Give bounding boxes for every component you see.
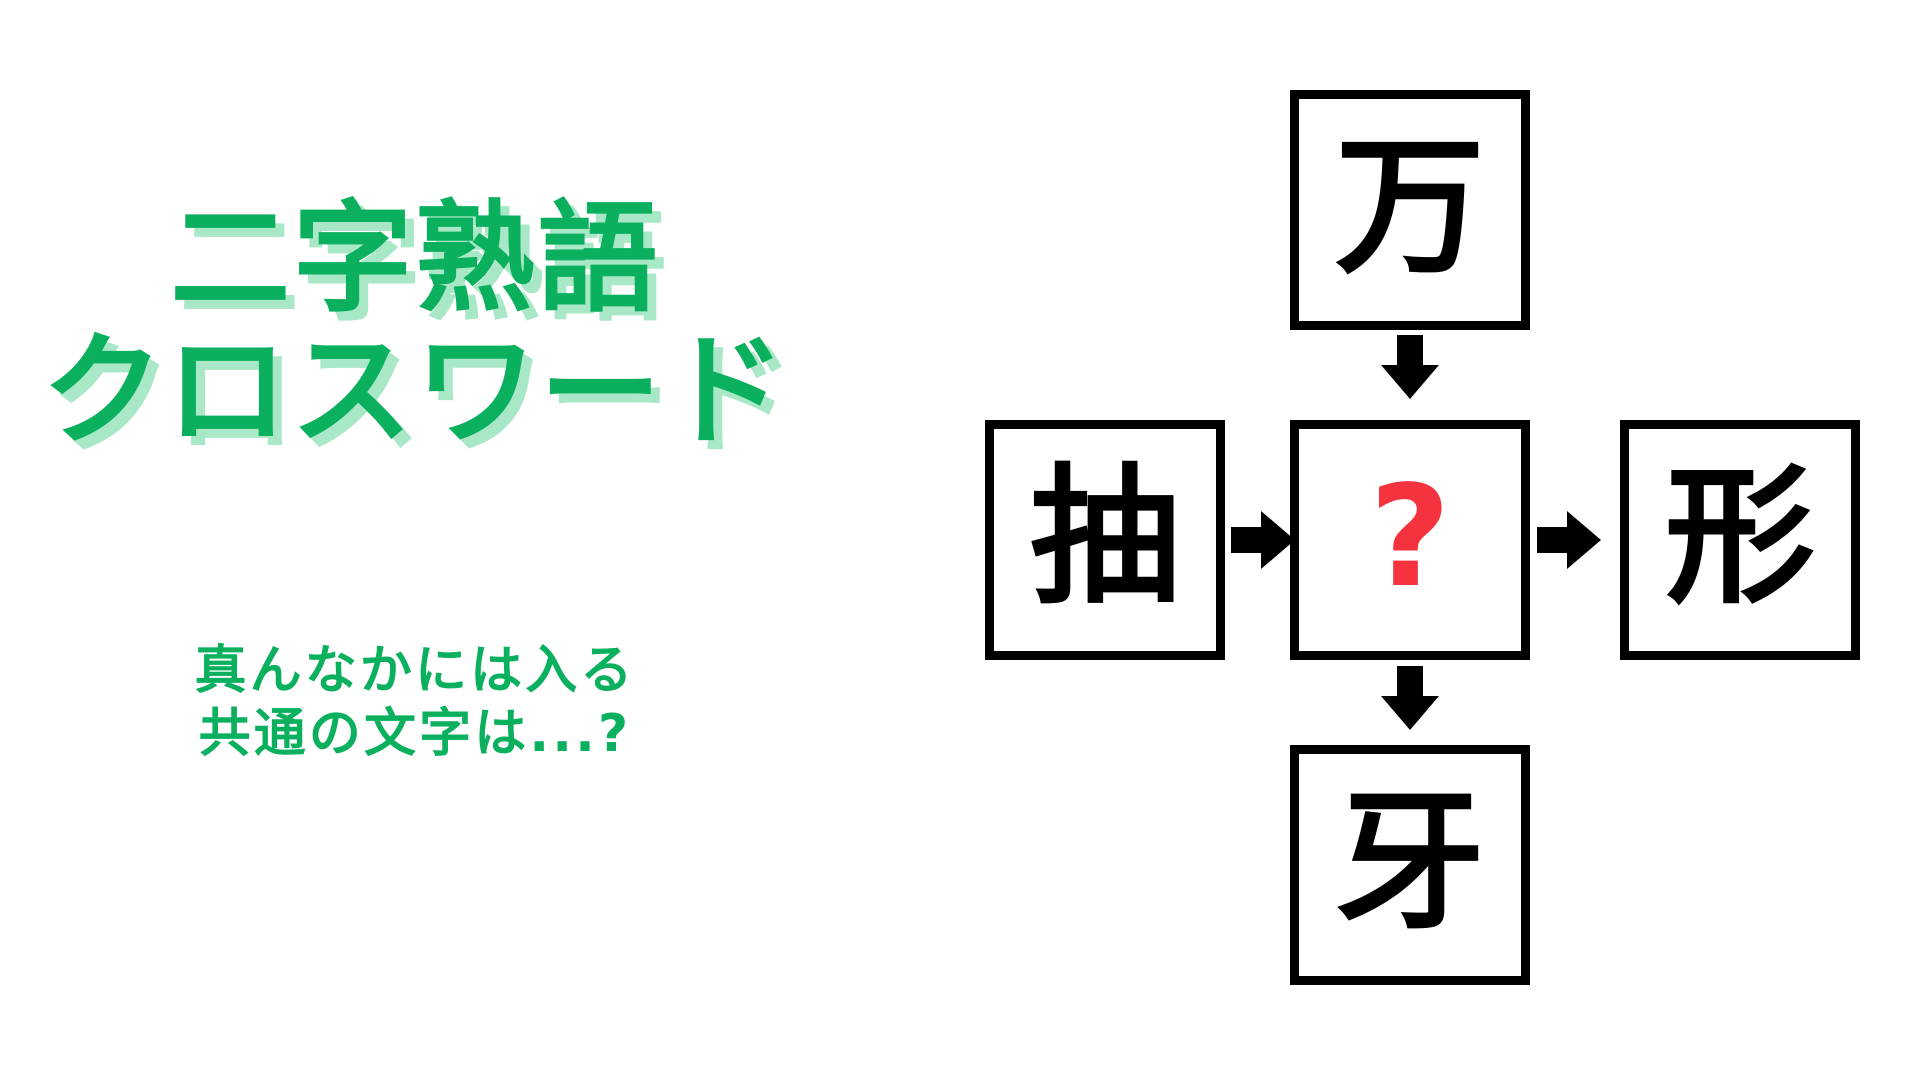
arrow-head [1381,696,1439,730]
title-line-2: クロスワード [0,327,830,456]
puzzle-cell-right-glyph: 形 [1665,463,1815,613]
arrow-down-icon-top-to-center [1381,335,1439,399]
arrow-right-icon-center-to-right [1537,511,1601,569]
arrow-shaft [1231,527,1263,553]
subtitle-line-1: 真んなかには入る [0,640,830,703]
arrow-head [1567,511,1601,569]
puzzle-cell-right: 形 [1620,420,1860,660]
arrow-head [1381,365,1439,399]
puzzle-cell-bottom: 牙 [1290,745,1530,985]
arrow-shaft [1397,666,1423,698]
puzzle-cell-bottom-glyph: 牙 [1335,788,1485,938]
title-block: 二字熟語 クロスワード [0,196,830,457]
puzzle-cell-left-glyph: 抽 [1030,463,1180,613]
puzzle-cell-left: 抽 [985,420,1225,660]
puzzle-cell-center[interactable]: ? [1290,420,1530,660]
arrow-down-icon-center-to-bottom [1381,666,1439,730]
arrow-head [1261,511,1295,569]
puzzle-cell-top-glyph: 万 [1335,133,1485,283]
puzzle-card: 二字熟語 クロスワード 真んなかには入る 共通の文字は...? 万 抽 ? 形 … [0,0,1920,1080]
puzzle-cell-top: 万 [1290,90,1530,330]
subtitle-line-2: 共通の文字は...? [0,703,830,766]
arrow-shaft [1397,335,1423,367]
arrow-shaft [1537,527,1569,553]
subtitle-block: 真んなかには入る 共通の文字は...? [0,640,830,767]
puzzle-cell-center-glyph: ? [1369,468,1450,608]
arrow-right-icon-left-to-center [1231,511,1295,569]
title-line-1: 二字熟語 [0,196,830,323]
